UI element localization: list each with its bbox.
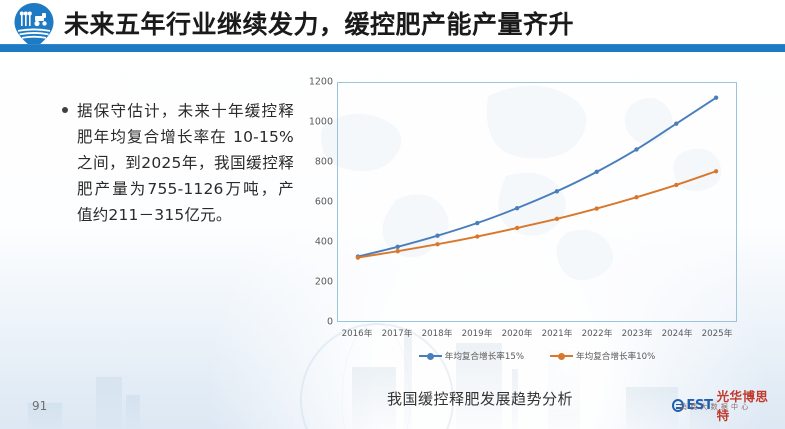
- series-line: [358, 98, 716, 257]
- slide-header: 未来五年行业继续发力，缓控肥产能产量齐升: [0, 0, 785, 52]
- series-marker: [595, 170, 599, 174]
- page-title: 未来五年行业继续发力，缓控肥产能产量齐升: [64, 4, 574, 46]
- series-marker: [595, 206, 599, 210]
- series-marker: [634, 195, 638, 199]
- series-line: [358, 171, 716, 257]
- series-marker: [435, 234, 439, 238]
- plot-area: [337, 82, 737, 322]
- legend-item[interactable]: 年均复合增长率10%: [550, 350, 655, 362]
- y-tick-label: 1000: [309, 117, 333, 128]
- x-axis-labels: 2016年2017年2018年2019年2020年2021年2022年2023年…: [337, 326, 737, 342]
- x-tick-label: 2019年: [462, 326, 493, 339]
- slide: 未来五年行业继续发力，缓控肥产能产量齐升 据保守估计，未来十年缓控释肥年均复合增…: [0, 0, 785, 429]
- series-marker: [515, 206, 519, 210]
- y-tick-label: 200: [315, 277, 333, 288]
- x-tick-label: 2022年: [582, 326, 613, 339]
- x-tick-label: 2023年: [622, 326, 653, 339]
- series-marker: [714, 95, 718, 99]
- series-marker: [435, 242, 439, 246]
- y-axis-labels: 020040060080010001200: [300, 62, 333, 342]
- company-logo: EST 光华博思特 消费大数据中心: [672, 386, 777, 420]
- series-marker: [714, 169, 718, 173]
- series-marker: [396, 249, 400, 253]
- x-tick-label: 2024年: [662, 326, 693, 339]
- series-marker: [555, 217, 559, 221]
- legend-marker-icon: [550, 352, 573, 361]
- header-rule: [0, 45, 785, 52]
- x-tick-label: 2016年: [342, 326, 373, 339]
- x-tick-label: 2017年: [382, 326, 413, 339]
- series-marker: [475, 221, 479, 225]
- page-number: 91: [32, 399, 47, 413]
- y-tick-label: 0: [327, 317, 333, 328]
- trend-line-chart: 020040060080010001200 2016年2017年2018年201…: [300, 62, 778, 380]
- legend-label: 年均复合增长率10%: [576, 350, 655, 362]
- y-tick-label: 800: [315, 157, 333, 168]
- legend-label: 年均复合增长率15%: [445, 350, 524, 362]
- series-marker: [555, 189, 559, 193]
- farm-location-pin-icon: [12, 2, 56, 50]
- y-tick-label: 600: [315, 197, 333, 208]
- series-marker: [674, 183, 678, 187]
- x-tick-label: 2021年: [542, 326, 573, 339]
- chart-caption: 我国缓控释肥发展趋势分析: [300, 388, 660, 409]
- legend-item[interactable]: 年均复合增长率15%: [419, 350, 524, 362]
- series-marker: [475, 234, 479, 238]
- logo-subtitle: 消费大数据中心: [680, 402, 751, 412]
- bullet-dot-icon: [62, 107, 68, 113]
- series-canvas: [338, 83, 736, 321]
- bullet-text: 据保守估计，未来十年缓控释肥年均复合增长率在 10-15% 之间，到2025年，…: [77, 98, 294, 228]
- x-tick-label: 2020年: [502, 326, 533, 339]
- y-tick-label: 1200: [309, 77, 333, 88]
- x-tick-label: 2025年: [702, 326, 733, 339]
- series-marker: [515, 226, 519, 230]
- legend-marker-icon: [419, 352, 442, 361]
- bullet-item: 据保守估计，未来十年缓控释肥年均复合增长率在 10-15% 之间，到2025年，…: [62, 98, 294, 228]
- y-tick-label: 400: [315, 237, 333, 248]
- x-tick-label: 2018年: [422, 326, 453, 339]
- series-marker: [674, 121, 678, 125]
- series-marker: [396, 245, 400, 249]
- series-marker: [634, 147, 638, 151]
- series-marker: [356, 255, 360, 259]
- chart-legend: 年均复合增长率15%年均复合增长率10%: [337, 350, 737, 362]
